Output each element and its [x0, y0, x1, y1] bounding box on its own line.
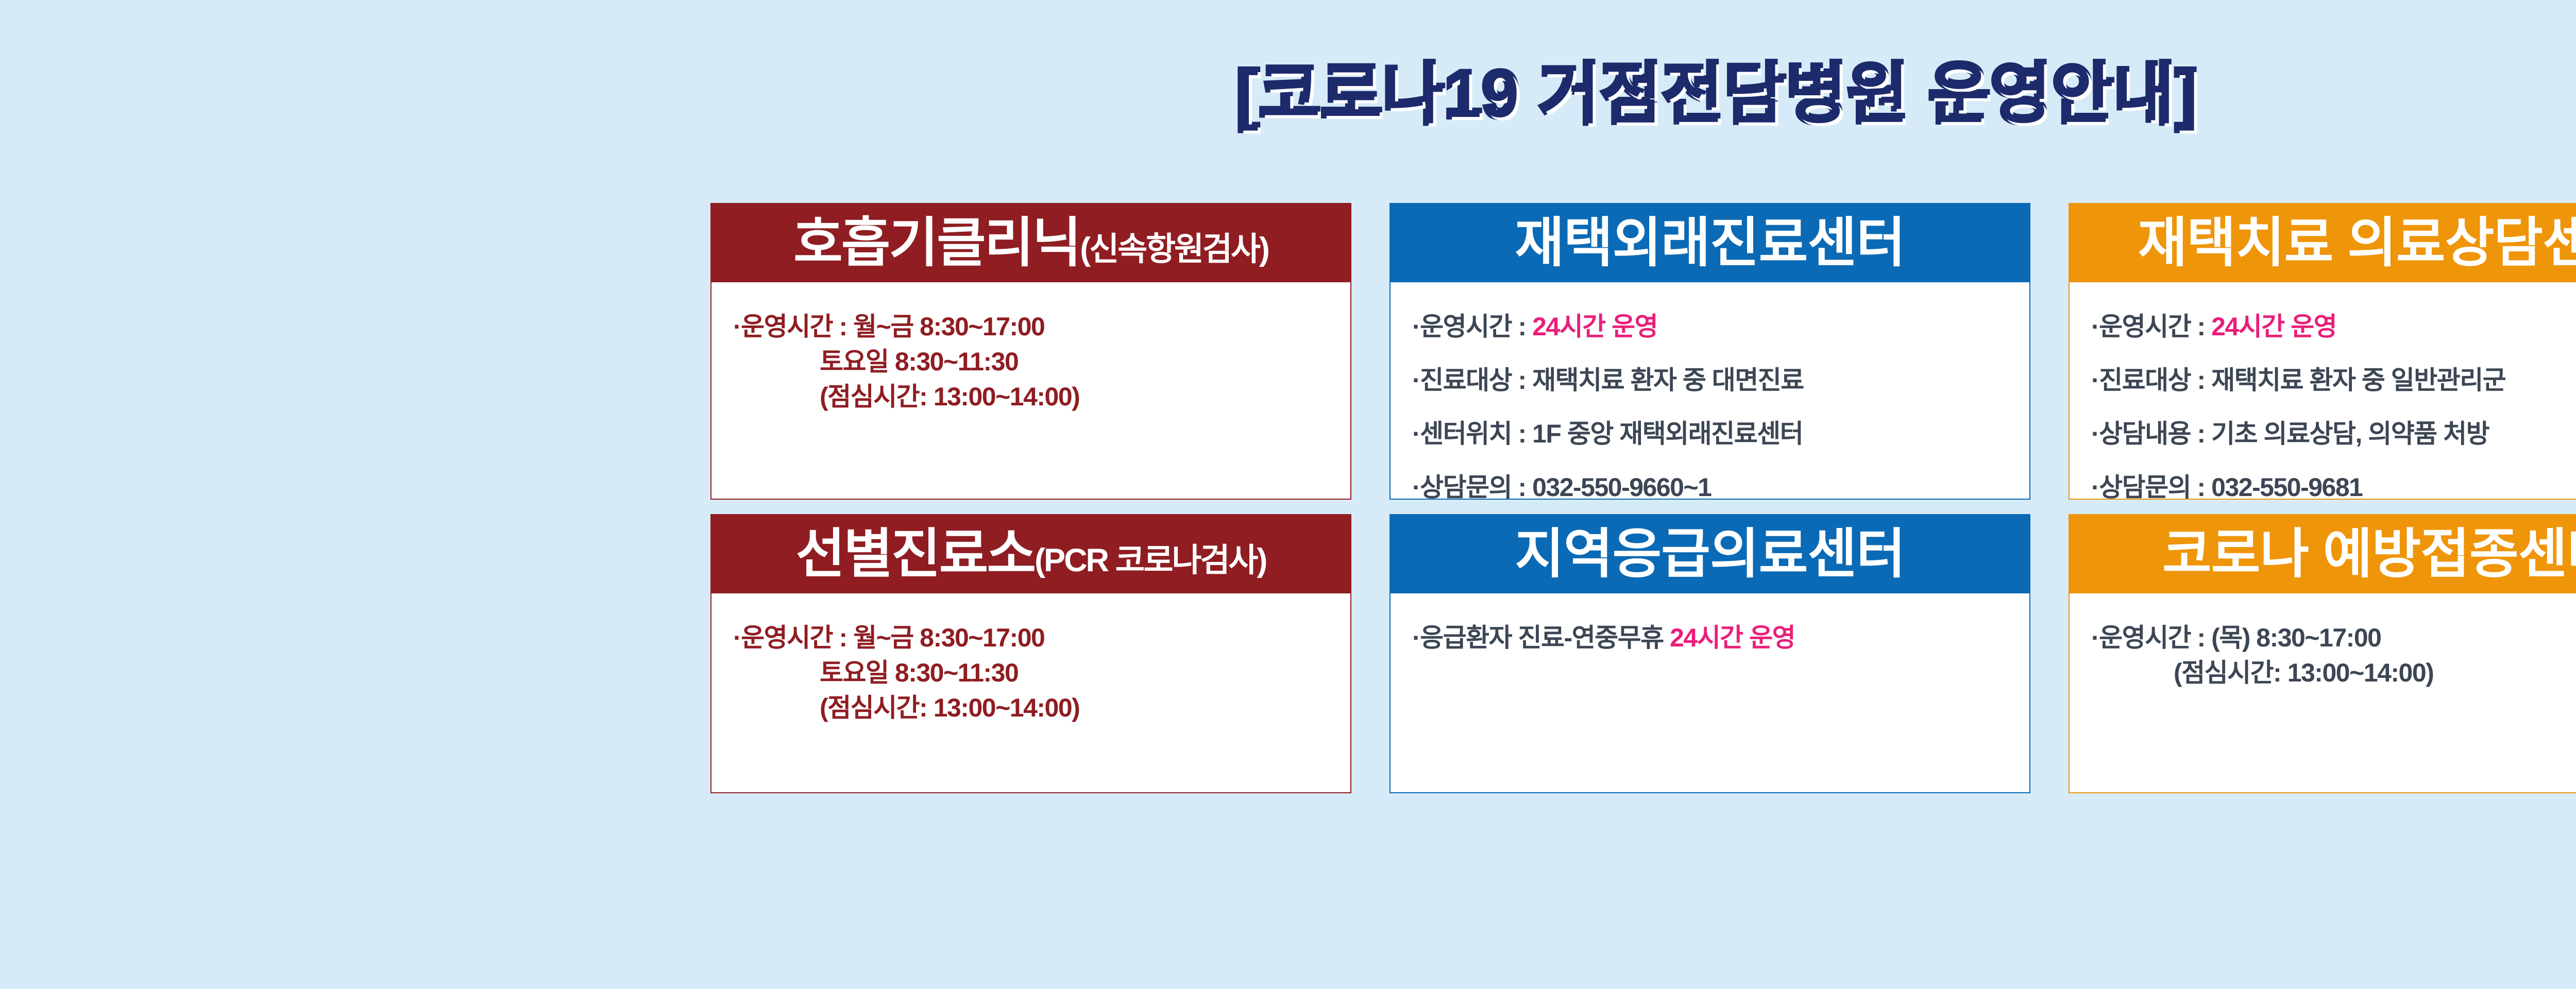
card-respiratory-clinic: 호흡기클리닉(신속항원검사) ·운영시간 : 월~금 8:30~17:00 토요…	[710, 203, 1351, 500]
card-grid: 호흡기클리닉(신속항원검사) ·운영시간 : 월~금 8:30~17:00 토요…	[710, 203, 2576, 857]
info-label: ·운영시간 :	[1412, 312, 1532, 341]
card-header: 호흡기클리닉(신속항원검사)	[711, 204, 1350, 282]
card-title: 재택치료 의료상담센터	[2138, 216, 2576, 270]
info-line: 토요일 8:30~11:30	[733, 655, 1329, 690]
card-subtitle: (신속항원검사)	[1080, 233, 1268, 266]
poster-title-area: [코로나19 거점전담병원 운영안내]	[0, 62, 2576, 128]
info-label: ·응급환자 진료-연중무휴	[1412, 623, 1670, 652]
info-line: ·진료대상 : 재택치료 환자 중 대면진료	[1412, 363, 2008, 398]
card-body: ·운영시간 : 월~금 8:30~17:00 토요일 8:30~11:30 (점…	[711, 282, 1350, 499]
card-header: 선별진료소(PCR 코로나검사)	[711, 515, 1350, 593]
info-line: ·운영시간 : (목) 8:30~17:00	[2091, 620, 2576, 655]
card-vaccination-center: 코로나 예방접종센터 ·운영시간 : (목) 8:30~17:00 (점심시간:…	[2069, 514, 2576, 793]
card-body: ·운영시간 : 24시간 운영 ·진료대상 : 재택치료 환자 중 일반관리군 …	[2070, 282, 2576, 500]
card-title: 코로나 예방접종센터	[2162, 527, 2576, 581]
info-line: ·운영시간 : 월~금 8:30~17:00	[733, 309, 1329, 344]
card-home-outpatient-center: 재택외래진료센터 ·운영시간 : 24시간 운영 ·진료대상 : 재택치료 환자…	[1389, 203, 2030, 500]
card-regional-emergency-center: 지역응급의료센터 ·응급환자 진료-연중무휴 24시간 운영	[1389, 514, 2030, 793]
info-highlight: 24시간 운영	[1670, 623, 1795, 652]
info-line: ·센터위치 : 1F 중앙 재택외래진료센터	[1412, 416, 2008, 451]
card-screening-clinic: 선별진료소(PCR 코로나검사) ·운영시간 : 월~금 8:30~17:00 …	[710, 514, 1351, 793]
card-body: ·운영시간 : 24시간 운영 ·진료대상 : 재택치료 환자 중 대면진료 ·…	[1391, 282, 2029, 500]
card-title: 호흡기클리닉	[793, 216, 1080, 270]
card-home-care-consult-center: 재택치료 의료상담센터 ·운영시간 : 24시간 운영 ·진료대상 : 재택치료…	[2069, 203, 2576, 500]
info-line: ·진료대상 : 재택치료 환자 중 일반관리군	[2091, 363, 2576, 398]
info-highlight: 24시간 운영	[1532, 312, 1657, 341]
card-subtitle: (PCR 코로나검사)	[1035, 544, 1266, 577]
info-line: (점심시간: 13:00~14:00)	[733, 379, 1329, 414]
card-header: 재택외래진료센터	[1391, 204, 2029, 282]
card-title: 선별진료소	[796, 527, 1035, 581]
card-body: ·응급환자 진료-연중무휴 24시간 운영	[1391, 593, 2029, 792]
info-label: ·운영시간 :	[2091, 312, 2211, 341]
card-body: ·운영시간 : 월~금 8:30~17:00 토요일 8:30~11:30 (점…	[711, 593, 1350, 792]
info-line: (점심시간: 13:00~14:00)	[733, 690, 1329, 725]
info-line: ·응급환자 진료-연중무휴 24시간 운영	[1412, 620, 2008, 655]
info-line: ·상담내용 : 기초 의료상담, 의약품 처방	[2091, 416, 2576, 451]
info-line: ·운영시간 : 24시간 운영	[1412, 309, 2008, 344]
info-line: ·상담문의 : 032-550-9660~1	[1412, 470, 2008, 500]
info-line: ·상담문의 : 032-550-9681	[2091, 470, 2576, 500]
card-header: 재택치료 의료상담센터	[2070, 204, 2576, 282]
info-line: ·운영시간 : 월~금 8:30~17:00	[733, 620, 1329, 655]
card-title: 지역응급의료센터	[1515, 527, 1905, 581]
poster-canvas: [코로나19 거점전담병원 운영안내] 호흡기클리닉(신속항원검사) ·운영시간…	[0, 0, 2576, 989]
info-highlight: 24시간 운영	[2211, 312, 2336, 341]
card-header: 코로나 예방접종센터	[2070, 515, 2576, 593]
card-body: ·운영시간 : (목) 8:30~17:00 (점심시간: 13:00~14:0…	[2070, 593, 2576, 792]
info-line: 토요일 8:30~11:30	[733, 344, 1329, 379]
card-header: 지역응급의료센터	[1391, 515, 2029, 593]
card-title: 재택외래진료센터	[1515, 216, 1905, 270]
info-line: ·운영시간 : 24시간 운영	[2091, 309, 2576, 344]
info-line: (점심시간: 13:00~14:00)	[2091, 655, 2576, 690]
page-title: [코로나19 거점전담병원 운영안내]	[1236, 62, 2199, 128]
